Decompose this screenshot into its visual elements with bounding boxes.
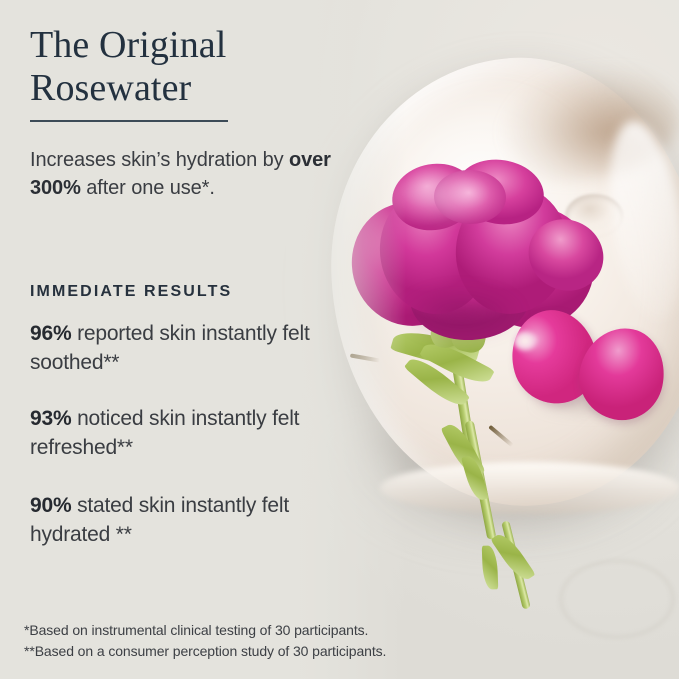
results-heading: IMMEDIATE RESULTS xyxy=(30,283,232,301)
stat-value: 93% xyxy=(30,407,71,430)
footnote-double-asterisk: **Based on a consumer perception study o… xyxy=(24,641,386,662)
page-title: The Original Rosewater xyxy=(30,24,360,111)
product-infographic: The Original Rosewater Increases skin’s … xyxy=(0,0,679,679)
claim-lead: Increases skin’s hydration by xyxy=(30,149,289,171)
title-line-2: Rosewater xyxy=(30,67,191,109)
stat-value: 90% xyxy=(30,494,71,517)
claim-trail: after one use*. xyxy=(81,177,215,199)
result-stat-3: 90% stated skin instantly felt hydrated … xyxy=(30,492,350,549)
result-stat-2: 93% noticed skin instantly felt refreshe… xyxy=(30,405,350,462)
stat-text: reported skin instantly felt soothed** xyxy=(30,322,310,374)
title-divider xyxy=(30,120,228,122)
stat-value: 96% xyxy=(30,322,71,345)
title-line-1: The Original xyxy=(30,24,226,66)
hydration-claim: Increases skin’s hydration by over 300% … xyxy=(30,146,370,203)
result-stat-1: 96% reported skin instantly felt soothed… xyxy=(30,320,350,377)
footnotes: *Based on instrumental clinical testing … xyxy=(24,620,386,663)
footnote-single-asterisk: *Based on instrumental clinical testing … xyxy=(24,620,386,641)
text-content: The Original Rosewater Increases skin’s … xyxy=(0,0,679,679)
stat-text: noticed skin instantly felt refreshed** xyxy=(30,407,299,459)
